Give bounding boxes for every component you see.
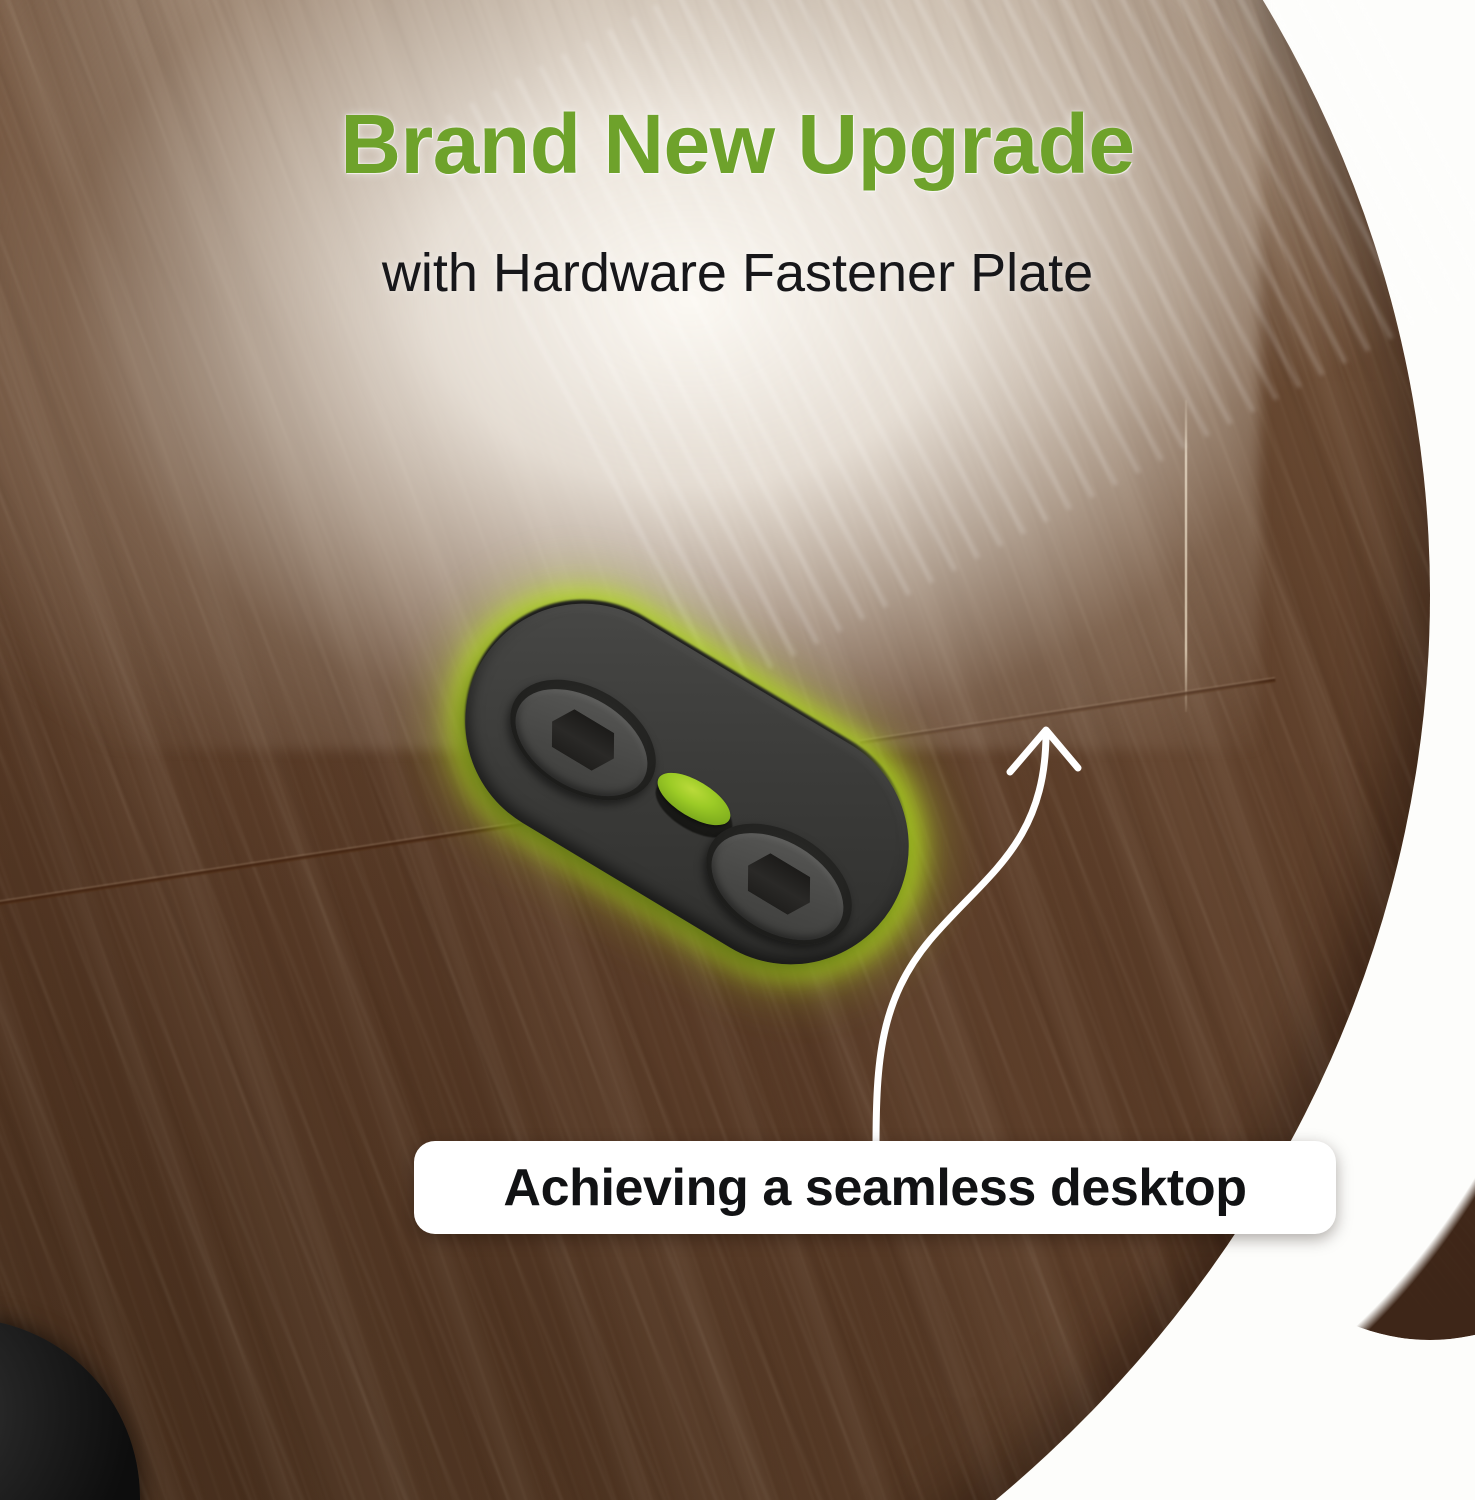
product-marketing-image: Brand New Upgrade with Hardware Fastener… (0, 0, 1475, 1500)
edge-shading (1020, 0, 1475, 1340)
page-subtitle: with Hardware Fastener Plate (0, 242, 1475, 304)
callout-label: Achieving a seamless desktop (414, 1141, 1336, 1234)
hardware-fastener-plate (432, 648, 942, 918)
callout-label-text: Achieving a seamless desktop (503, 1158, 1246, 1218)
tabletop-edge-band (1020, 0, 1475, 1340)
page-title: Brand New Upgrade (0, 96, 1475, 193)
